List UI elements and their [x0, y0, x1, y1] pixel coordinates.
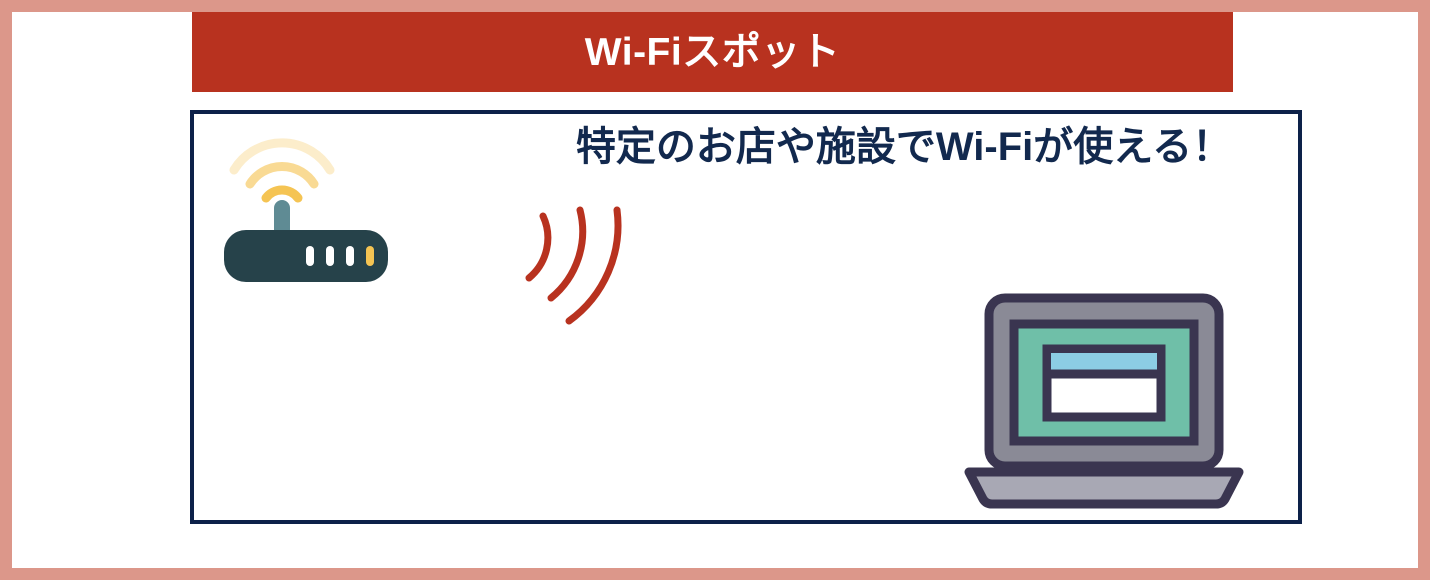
wifi-router-icon [222, 122, 392, 267]
laptop-icon [959, 294, 1249, 512]
headline-text: 特定のお店や施設でWi-Fiが使える！ [524, 124, 1284, 170]
banner-title-text: Wi-Fiスポット [585, 33, 840, 72]
content-box: 特定のお店や施設でWi-Fiが使える！ [190, 110, 1302, 524]
wifi-spot-infographic: Wi-Fiスポット 特定のお店や施設でWi-Fiが使える！ [0, 0, 1430, 580]
title-banner: Wi-Fiスポット [192, 12, 1233, 92]
broadcast-waves-icon [524, 199, 644, 334]
